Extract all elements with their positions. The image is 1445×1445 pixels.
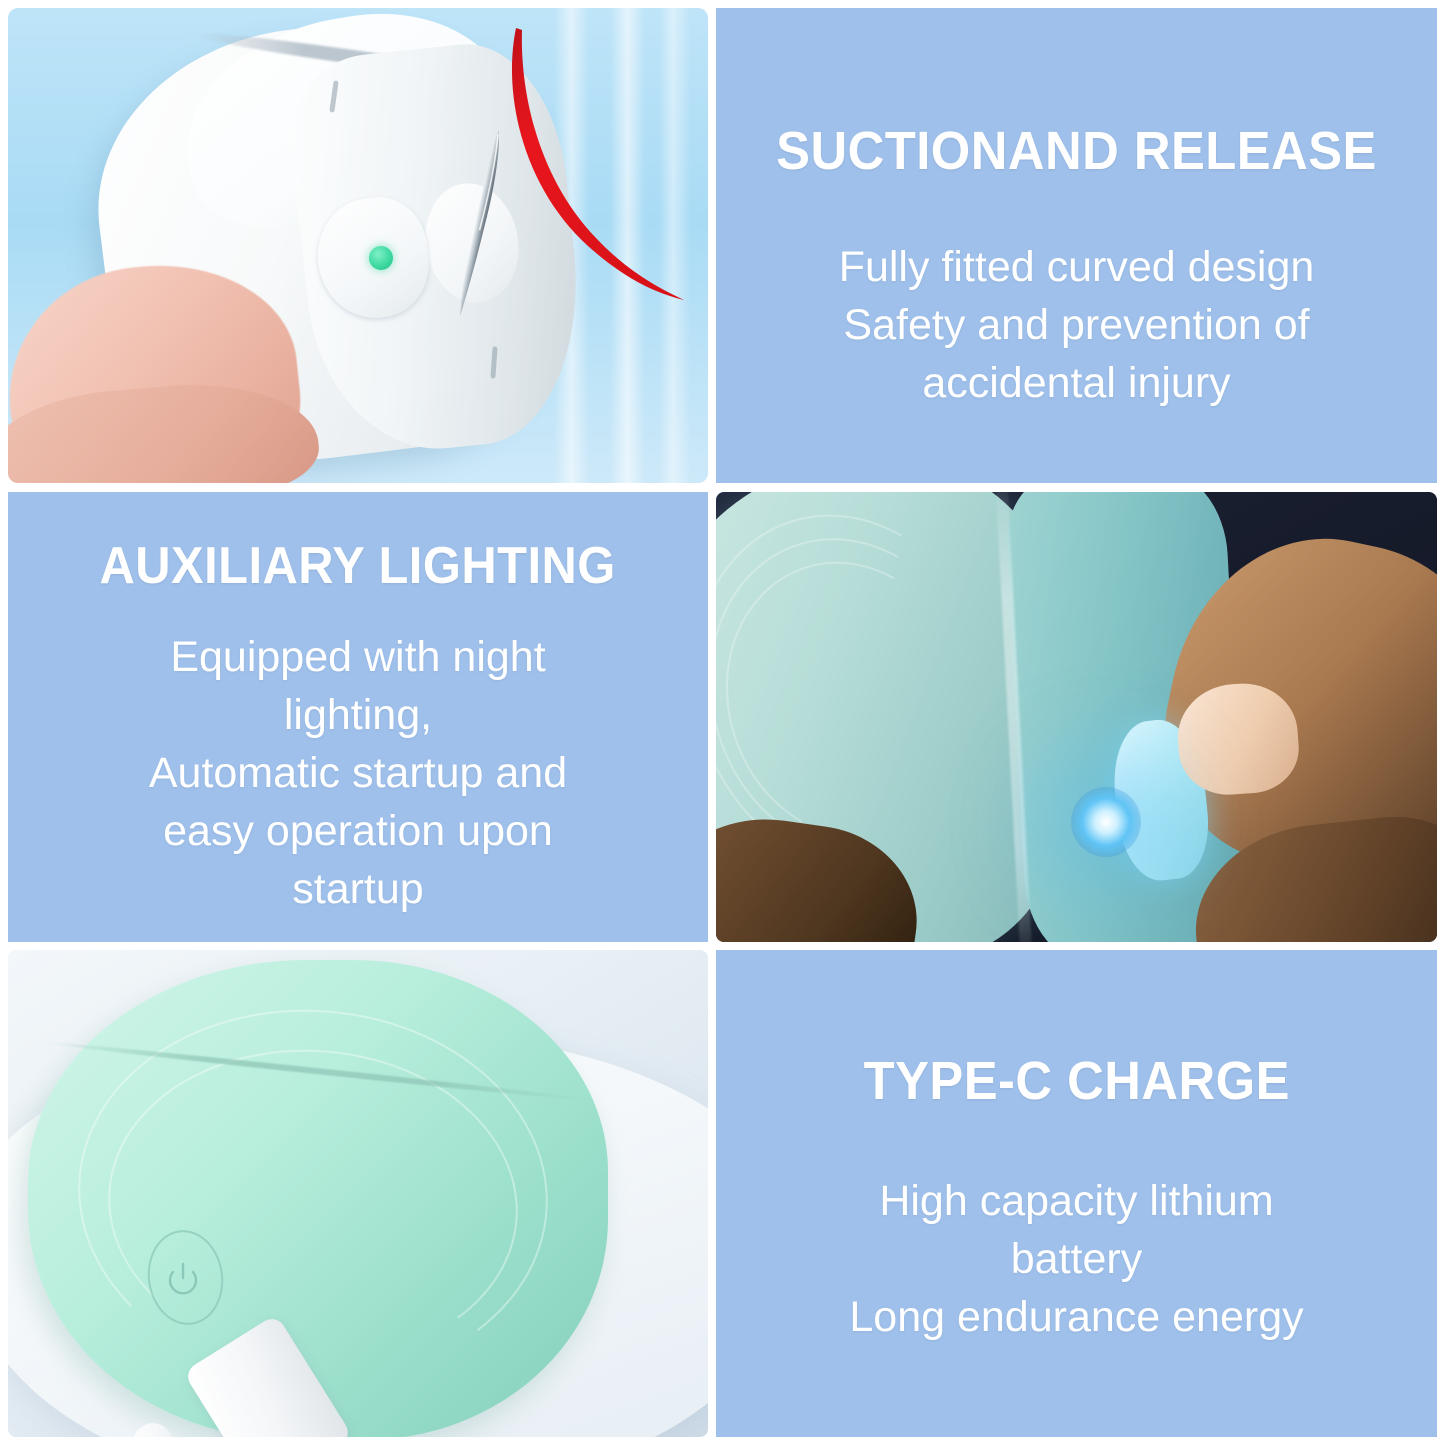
auxiliary-lighting-body-line-2: lighting, <box>149 686 567 744</box>
auxiliary-lighting-body-line-4: easy operation upon <box>149 802 567 860</box>
auxiliary-lighting-text-panel: AUXILIARY LIGHTING Equipped with night l… <box>8 492 708 942</box>
suction-release-body-line-3: accidental injury <box>839 354 1315 412</box>
suction-release-photo-panel <box>8 8 708 483</box>
suction-release-body-line-2: Safety and prevention of <box>839 296 1315 354</box>
suction-release-body: Fully fitted curved design Safety and pr… <box>839 238 1315 412</box>
blue-led-glow-icon <box>1071 787 1141 857</box>
product-feature-infographic: SUCTIONAND RELEASE Fully fitted curved d… <box>0 0 1445 1445</box>
auxiliary-lighting-body-line-5: startup <box>149 860 567 918</box>
power-icon <box>166 1262 200 1296</box>
red-curved-arc-accent-icon <box>478 18 708 318</box>
green-led-indicator-icon <box>369 246 393 270</box>
auxiliary-lighting-heading: AUXILIARY LIGHTING <box>100 536 616 596</box>
type-c-charge-body-line-3: Long endurance energy <box>849 1288 1303 1346</box>
auxiliary-lighting-body-line-3: Automatic startup and <box>149 744 567 802</box>
type-c-charge-body: High capacity lithium battery Long endur… <box>849 1172 1303 1346</box>
auxiliary-lighting-photo-panel <box>716 492 1437 942</box>
suction-release-body-line-1: Fully fitted curved design <box>839 238 1315 296</box>
auxiliary-lighting-body-line-1: Equipped with night <box>149 628 567 686</box>
type-c-charge-photo-panel <box>8 950 708 1437</box>
type-c-charge-body-line-1: High capacity lithium <box>849 1172 1303 1230</box>
suction-release-text-panel: SUCTIONAND RELEASE Fully fitted curved d… <box>716 8 1437 483</box>
auxiliary-lighting-body: Equipped with night lighting, Automatic … <box>149 628 567 918</box>
suction-release-heading: SUCTIONAND RELEASE <box>776 120 1377 182</box>
type-c-charge-body-line-2: battery <box>849 1230 1303 1288</box>
type-c-charge-text-panel: TYPE-C CHARGE High capacity lithium batt… <box>716 950 1437 1437</box>
type-c-charge-heading: TYPE-C CHARGE <box>863 1050 1289 1112</box>
